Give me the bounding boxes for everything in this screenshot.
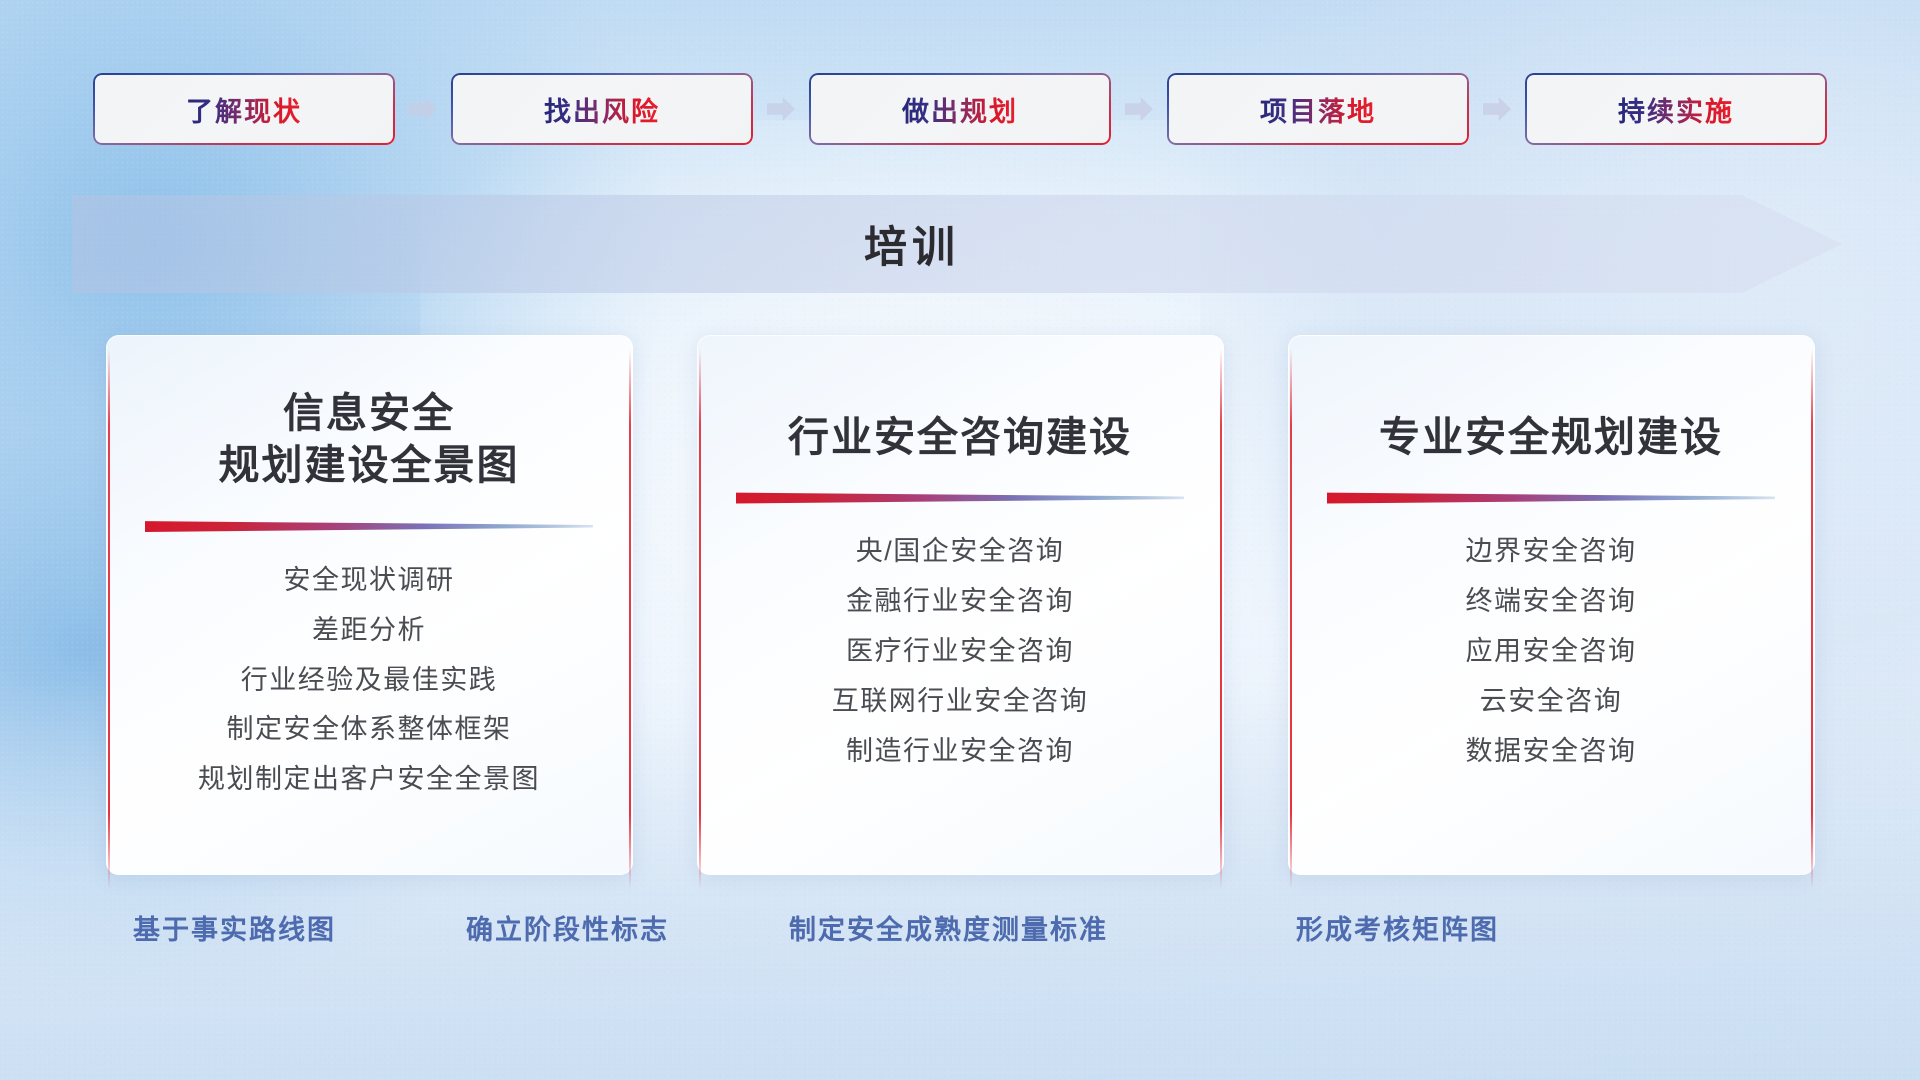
list-item: 医疗行业安全咨询: [846, 631, 1074, 673]
list-item: 数据安全咨询: [1466, 731, 1637, 773]
process-step-row: 了解现状 找出风险 做出规划 项目落地 持续实施: [0, 73, 1920, 145]
list-item: 终端安全咨询: [1466, 581, 1637, 623]
list-item: 安全现状调研: [284, 560, 455, 602]
step-label-1: 了解现状: [186, 90, 302, 129]
list-item: 差距分析: [312, 610, 426, 652]
step-label-5: 持续实施: [1618, 90, 1734, 129]
list-item: 规划制定出客户安全全景图: [198, 759, 540, 801]
step-arrow-right-icon-3: [1125, 96, 1153, 122]
bottom-label-3: 制定安全成熟度测量标准: [789, 908, 1108, 947]
step-box-2[interactable]: 找出风险: [451, 73, 753, 145]
step-label-4: 项目落地: [1260, 90, 1376, 129]
card-list-3: 边界安全咨询 终端安全咨询 应用安全咨询 云安全咨询 数据安全咨询: [1288, 531, 1815, 772]
step-box-4[interactable]: 项目落地: [1167, 73, 1469, 145]
step-arrow-right-icon-4: [1483, 96, 1511, 122]
step-arrow-right-icon-1: [409, 96, 437, 122]
step-box-5[interactable]: 持续实施: [1525, 73, 1827, 145]
card-divider-1: [145, 518, 593, 534]
card-title-3: 专业安全规划建设: [1379, 411, 1723, 463]
card-2[interactable]: 行业安全咨询建设 央/国企安全咨询 金融行业安全咨询 医疗行业安全咨询 互联网行…: [697, 335, 1224, 875]
list-item: 边界安全咨询: [1466, 531, 1637, 573]
bottom-label-2: 确立阶段性标志: [466, 908, 669, 947]
card-row: 信息安全 规划建设全景图 安全现状调研 差距分析 行业经验及最佳实践 制定安全体…: [0, 335, 1920, 875]
bottom-label-1: 基于事实路线图: [133, 908, 336, 947]
card-divider-2: [736, 489, 1184, 505]
step-box-1[interactable]: 了解现状: [93, 73, 395, 145]
step-label-2: 找出风险: [544, 90, 660, 129]
list-item: 云安全咨询: [1480, 681, 1623, 723]
bottom-label-row: 基于事实路线图 确立阶段性标志 制定安全成熟度测量标准 形成考核矩阵图: [0, 908, 1920, 960]
card-divider-3: [1327, 489, 1775, 505]
banner-title: 培训: [72, 195, 1752, 293]
card-3[interactable]: 专业安全规划建设 边界安全咨询 终端安全咨询 应用安全咨询 云安全咨询 数据安全…: [1288, 335, 1815, 875]
list-item: 制定安全体系整体框架: [227, 709, 512, 751]
list-item: 行业经验及最佳实践: [241, 660, 498, 702]
list-item: 央/国企安全咨询: [856, 531, 1065, 573]
list-item: 互联网行业安全咨询: [832, 681, 1089, 723]
step-arrow-right-icon-2: [767, 96, 795, 122]
card-list-1: 安全现状调研 差距分析 行业经验及最佳实践 制定安全体系整体框架 规划制定出客户…: [106, 560, 633, 801]
list-item: 金融行业安全咨询: [846, 581, 1074, 623]
card-list-2: 央/国企安全咨询 金融行业安全咨询 医疗行业安全咨询 互联网行业安全咨询 制造行…: [697, 531, 1224, 772]
card-1[interactable]: 信息安全 规划建设全景图 安全现状调研 差距分析 行业经验及最佳实践 制定安全体…: [106, 335, 633, 875]
card-title-2: 行业安全咨询建设: [788, 411, 1132, 463]
step-box-3[interactable]: 做出规划: [809, 73, 1111, 145]
bottom-label-4: 形成考核矩阵图: [1296, 908, 1499, 947]
list-item: 制造行业安全咨询: [846, 731, 1074, 773]
training-banner: 培训: [72, 195, 1842, 293]
step-label-3: 做出规划: [902, 90, 1018, 129]
list-item: 应用安全咨询: [1466, 631, 1637, 673]
card-title-1: 信息安全 规划建设全景图: [219, 387, 520, 492]
